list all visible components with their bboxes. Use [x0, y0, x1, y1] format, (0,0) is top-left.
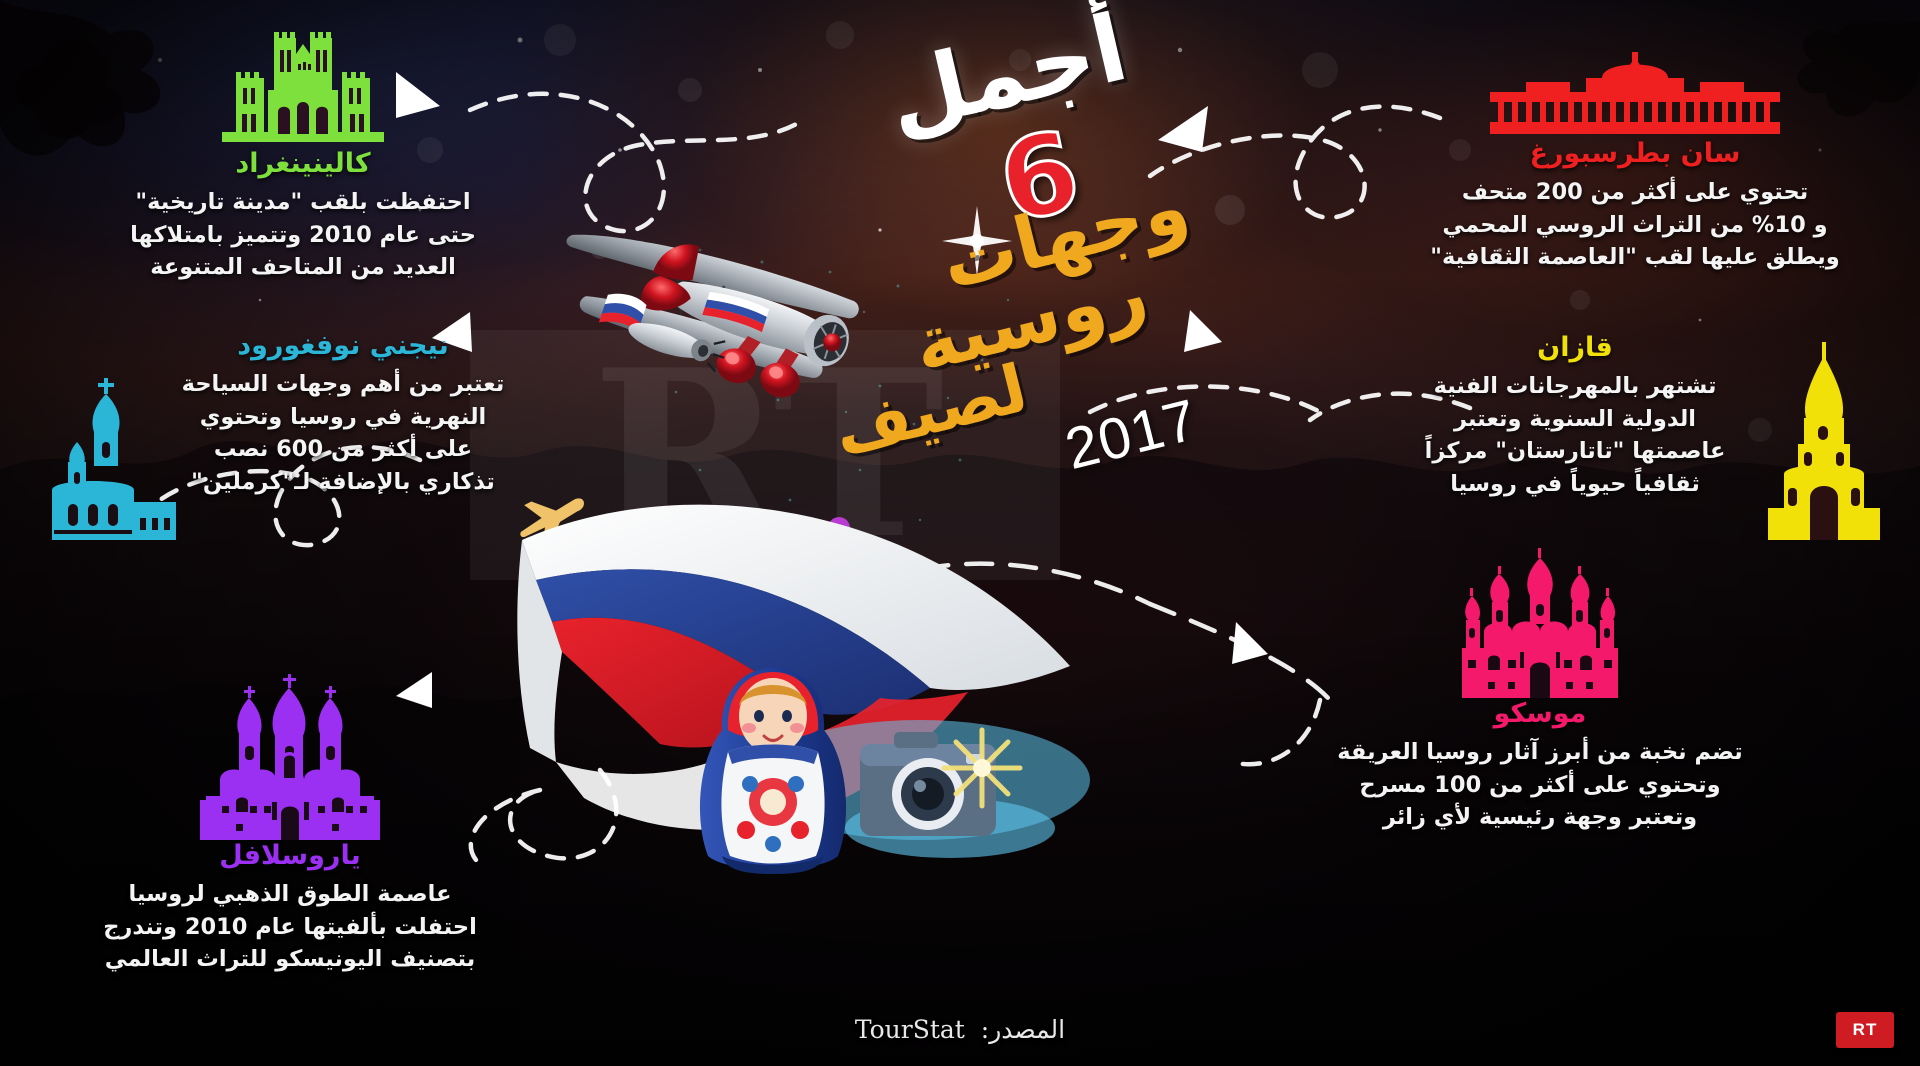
city-block-kaliningrad: كالينينغراد احتفظت بلقب "مدينة تاريخية" … [88, 28, 518, 284]
city-block-moscow: موسكو تضم نخبة من أبرز آثار روسيا العريق… [1320, 548, 1760, 834]
cathedral-purple-icon [200, 672, 380, 840]
city-name-yaroslavl: ياروسلافل [70, 840, 510, 872]
arrow-stpetersburg [1158, 106, 1208, 152]
city-desc-saint-petersburg: تحتوي على أكثر من 200 متحف و 10% من التر… [1410, 176, 1860, 273]
rt-logo-text: RT [1853, 1020, 1878, 1040]
source-line: المصدر: TourStat [0, 1015, 1920, 1044]
infographic-canvas: RT [0, 0, 1920, 1066]
city-desc-nizhny-novgorod: تعتبر من أهم وجهات السياحة النهرية في رو… [158, 368, 528, 498]
route-moscow [1232, 700, 1320, 764]
city-desc-kaliningrad: احتفظت بلقب "مدينة تاريخية" حتى عام 2010… [88, 186, 518, 283]
city-block-nizhny-novgorod: نيجني نوفغورود تعتبر من أهم وجهات السياح… [158, 330, 528, 498]
rt-logo: RT [1836, 1012, 1894, 1048]
source-value: TourStat [855, 1015, 965, 1044]
camera-icon [830, 710, 1060, 860]
city-desc-kazan: تشتهر بالمهرجانات الفنية الدولية السنوية… [1380, 370, 1770, 500]
city-name-nizhny-novgorod: نيجني نوفغورود [158, 330, 528, 362]
tower-yellow-icon [1760, 340, 1890, 540]
city-name-kazan: قازان [1380, 332, 1770, 364]
city-name-moscow: موسكو [1320, 698, 1760, 730]
source-label: المصدر: [981, 1015, 1065, 1044]
castle-icon [218, 28, 388, 148]
arrow-kazan [1184, 310, 1222, 352]
main-title: أجمل 6 وجهات روسية لصيف 2017 [620, 10, 1140, 570]
arrow-moscow [1232, 622, 1268, 664]
city-desc-yaroslavl: عاصمة الطوق الذهبي لروسيا احتفلت بألفيته… [70, 878, 510, 975]
city-desc-moscow: تضم نخبة من أبرز آثار روسيا العريقة وتحت… [1320, 736, 1760, 833]
saint-basil-icon [1460, 548, 1620, 698]
city-name-kaliningrad: كالينينغراد [88, 148, 518, 180]
city-block-saint-petersburg: سان بطرسبورغ تحتوي على أكثر من 200 متحف … [1410, 52, 1860, 274]
title-line-rusiya: روسية [906, 254, 1153, 383]
city-name-saint-petersburg: سان بطرسبورغ [1410, 138, 1860, 170]
palace-icon [1490, 52, 1780, 138]
title-line-lisayf: لصيف [828, 355, 1034, 466]
city-block-kazan: قازان تشتهر بالمهرجانات الفنية الدولية ا… [1380, 332, 1770, 500]
city-block-yaroslavl: ياروسلافل عاصمة الطوق الذهبي لروسيا احتف… [70, 672, 510, 976]
